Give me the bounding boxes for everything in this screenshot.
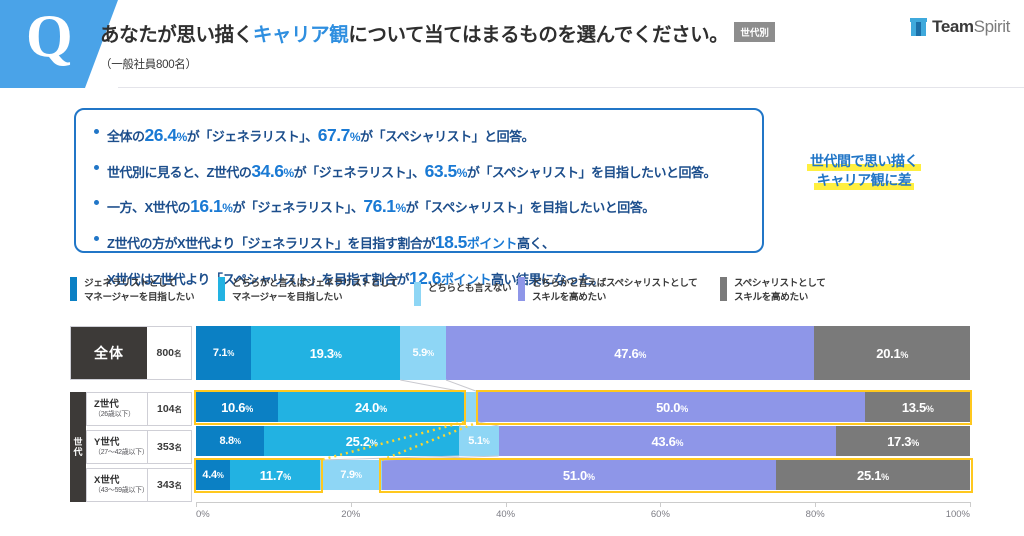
x-axis-tick xyxy=(506,502,507,507)
x-axis-tick-label: 100% xyxy=(946,509,970,520)
x-axis-tick-label: 60% xyxy=(651,509,670,520)
title-highlight: キャリア観 xyxy=(253,24,349,46)
row-label-z: Z世代（26歳以下）104名 xyxy=(86,392,192,426)
callout-bullet-text: 世代別に見ると、Z世代の34.6%が「ジェネラリスト」、63.5%が「スペシャリ… xyxy=(107,158,716,185)
legend-swatch-icon xyxy=(70,277,77,301)
page-title: あなたが思い描くキャリア観について当てはまるものを選んでください。世代別 xyxy=(100,18,800,47)
legend-item-5: スペシャリストとしてスキルを高めたい xyxy=(720,277,825,305)
callout-bullet-text: 全体の26.4%が「ジェネラリスト」、67.7%が「スペシャリスト」と回答。 xyxy=(107,122,534,149)
connector-guides xyxy=(196,326,970,526)
bullet-dot-icon xyxy=(94,200,99,205)
guide-line xyxy=(479,422,499,426)
guide-line xyxy=(382,422,479,460)
highlight-note-line-1: 世代間で思い描く xyxy=(807,152,921,171)
header-divider xyxy=(118,87,1024,88)
legend-item-2: どちらかと言えばジェネラリストとしてマネージャーを目指したい xyxy=(218,277,398,305)
bullet-dot-icon xyxy=(94,129,99,134)
x-axis-tick xyxy=(815,502,816,507)
summary-callout-box: 全体の26.4%が「ジェネラリスト」、67.7%が「スペシャリスト」と回答。世代… xyxy=(74,108,764,253)
generation-group-label: 世代 xyxy=(70,392,86,502)
title-part-2: について当てはまるものを選んでください。 xyxy=(348,24,728,46)
chart-legend: ジェネラリストとしてマネージャーを目指したいどちらかと言えばジェネラリストとして… xyxy=(70,277,970,307)
legend-item-1: ジェネラリストとしてマネージャーを目指したい xyxy=(70,277,194,305)
callout-bullet-text: 一方、X世代の16.1%が「ジェネラリスト」、76.1%が「スペシャリスト」を目… xyxy=(107,193,655,220)
x-axis-tick-label: 0% xyxy=(196,509,210,520)
legend-swatch-icon xyxy=(218,277,225,301)
highlight-note: 世代間で思い描く キャリア観に差 xyxy=(778,152,950,190)
legend-item-4: どちらかと言えばスペシャリストとしてスキルを高めたい xyxy=(518,277,697,305)
row-label-name: X世代（43〜59歳以下） xyxy=(87,475,147,495)
x-axis-tick xyxy=(970,502,971,507)
row-label-count: 343名 xyxy=(147,469,191,501)
teamspirit-logo-icon xyxy=(910,18,927,36)
title-block: あなたが思い描くキャリア観について当てはまるものを選んでください。世代別 （一般… xyxy=(100,18,800,72)
logo-text-bold: Team xyxy=(932,17,974,36)
x-axis-tick-label: 40% xyxy=(496,509,515,520)
stacked-bar-chart: 全体 800名 世代 Z世代（26歳以下）104名Y世代（27〜42歳以下）35… xyxy=(70,326,970,526)
x-axis-line xyxy=(196,502,970,503)
guide-line xyxy=(446,380,479,392)
highlight-note-line-2: キャリア観に差 xyxy=(814,171,915,190)
page-subtitle: （一般社員800名） xyxy=(100,56,800,72)
row-label-count: 353名 xyxy=(147,431,191,463)
legend-label: スペシャリストとしてスキルを高めたい xyxy=(734,277,825,305)
logo-text-light: Spirit xyxy=(974,17,1010,36)
bullet-dot-icon xyxy=(94,165,99,170)
question-mark-letter: Q xyxy=(26,6,72,66)
legend-label: どちらとも言えない xyxy=(428,282,511,296)
row-label-name: Y世代（27〜42歳以下） xyxy=(87,437,147,457)
row-label-x: X世代（43〜59歳以下）343名 xyxy=(86,468,192,502)
row-label-count: 104名 xyxy=(147,393,191,425)
logo-wordmark: TeamSpirit xyxy=(932,17,1010,37)
legend-swatch-icon xyxy=(518,277,525,301)
legend-label: どちらかと言えばスペシャリストとしてスキルを高めたい xyxy=(532,277,697,305)
x-axis-tick xyxy=(196,502,197,507)
generation-rows: Z世代（26歳以下）104名Y世代（27〜42歳以下）353名X世代（43〜59… xyxy=(86,392,192,502)
legend-item-3: どちらとも言えない xyxy=(414,282,511,306)
guide-line xyxy=(400,380,463,392)
bullet-dot-icon xyxy=(94,236,99,241)
title-part-1: あなたが思い描く xyxy=(100,24,253,46)
x-axis-tick xyxy=(351,502,352,507)
row-label-total: 全体 800名 xyxy=(70,326,192,380)
x-axis-tick-label: 80% xyxy=(806,509,825,520)
page-header: Q あなたが思い描くキャリア観について当てはまるものを選んでください。世代別 （… xyxy=(0,0,1024,88)
callout-bullet: 世代別に見ると、Z世代の34.6%が「ジェネラリスト」、63.5%が「スペシャリ… xyxy=(94,158,748,185)
row-label-name: Z世代（26歳以下） xyxy=(87,399,147,419)
legend-label: ジェネラリストとしてマネージャーを目指したい xyxy=(84,277,194,305)
callout-bullet: 一方、X世代の16.1%が「ジェネラリスト」、76.1%が「スペシャリスト」を目… xyxy=(94,193,748,220)
row-label-total-count: 800名 xyxy=(147,327,191,379)
callout-bullet: 全体の26.4%が「ジェネラリスト」、67.7%が「スペシャリスト」と回答。 xyxy=(94,122,748,149)
legend-swatch-icon xyxy=(720,277,727,301)
status-badge: 世代別 xyxy=(734,22,775,42)
row-label-y: Y世代（27〜42歳以下）353名 xyxy=(86,430,192,464)
guide-line xyxy=(321,422,464,460)
callout-bullet-text: Z世代の方がX世代より「ジェネラリスト」を目指す割合が18.5ポイント高く、 xyxy=(107,229,554,256)
legend-label: どちらかと言えばジェネラリストとしてマネージャーを目指したい xyxy=(232,277,398,305)
x-axis-tick xyxy=(660,502,661,507)
x-axis: 0%20%40%60%80%100% xyxy=(196,502,970,528)
infographic-page: Q あなたが思い描くキャリア観について当てはまるものを選んでください。世代別 （… xyxy=(0,0,1024,536)
legend-swatch-icon xyxy=(414,282,421,306)
row-label-total-name: 全体 xyxy=(71,327,147,379)
generation-group: 世代 Z世代（26歳以下）104名Y世代（27〜42歳以下）353名X世代（43… xyxy=(70,392,192,502)
x-axis-tick-label: 20% xyxy=(341,509,360,520)
callout-bullet: Z世代の方がX世代より「ジェネラリスト」を目指す割合が18.5ポイント高く、 xyxy=(94,229,748,256)
teamspirit-logo: TeamSpirit xyxy=(910,17,1010,37)
